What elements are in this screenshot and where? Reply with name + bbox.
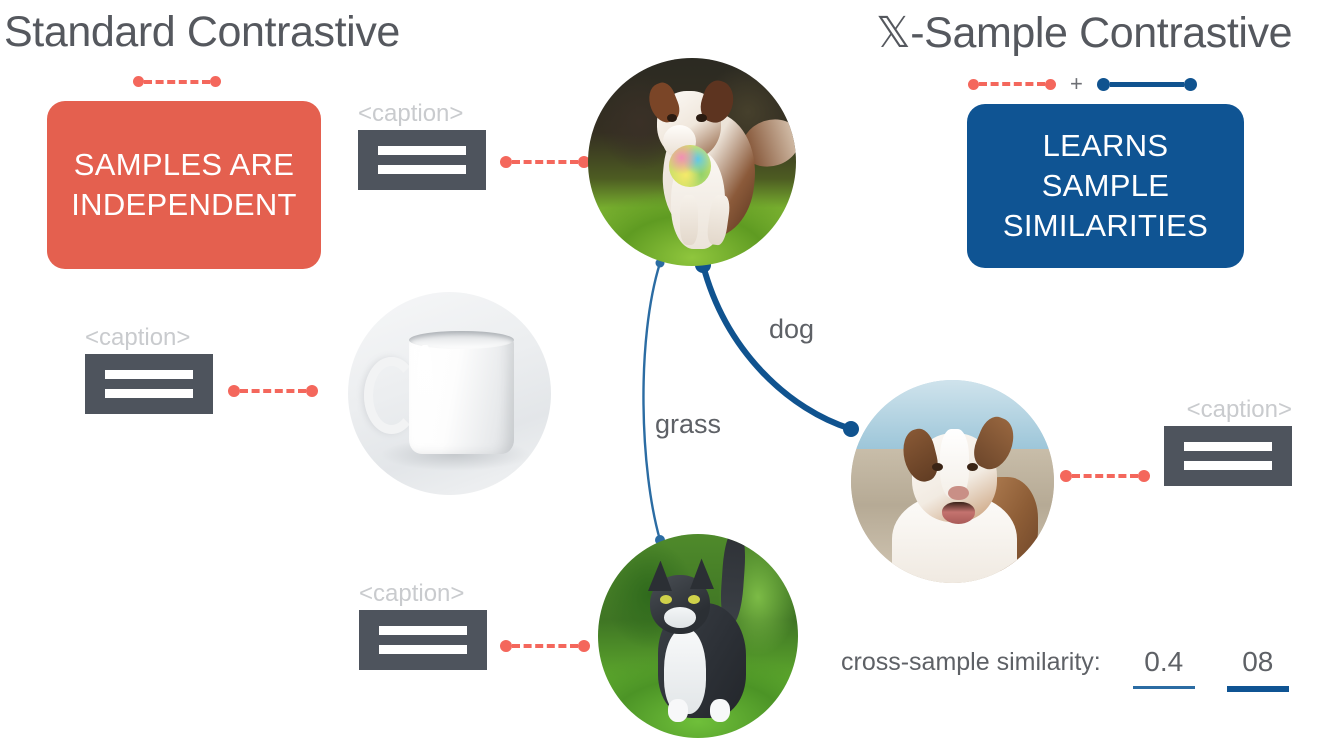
mug-highlight <box>417 345 433 434</box>
legend-plus-symbol: + <box>1070 73 1083 95</box>
cat-paw <box>668 699 688 721</box>
similarity-underline-thin-icon <box>1133 686 1195 689</box>
graph-edge-dog <box>703 265 851 429</box>
similarity-value-text: 0.4 <box>1144 648 1183 676</box>
cross-sample-similarity-legend: cross-sample similarity: 0.4 08 <box>841 648 1289 692</box>
legend-dashed-line-icon <box>979 82 1045 86</box>
caption-bar-line-2 <box>105 389 193 398</box>
connector-dashed-line-icon <box>1072 474 1138 478</box>
connector-caption-dog-beach <box>1060 470 1150 482</box>
panel-title-x-sample-contrastive: 𝕏-Sample Contrastive <box>876 8 1292 58</box>
connector-dashed-line-icon <box>512 644 578 648</box>
double-struck-x-icon: 𝕏 <box>876 8 910 58</box>
similarity-underline-thick-icon <box>1227 686 1289 692</box>
cat-paw <box>710 699 730 721</box>
caption-text-block <box>359 610 487 670</box>
legend-solid-pair <box>1097 78 1197 91</box>
dog-open-mouth <box>942 502 974 524</box>
photo-white-mug[interactable] <box>348 292 551 495</box>
similarity-value-low: 0.4 <box>1133 648 1195 689</box>
connector-dot-end-icon <box>1138 470 1150 482</box>
legend-dashed-pair <box>968 79 1056 90</box>
photo-cat-on-grass[interactable] <box>598 534 798 738</box>
legend-solid-dot-right-icon <box>1184 78 1197 91</box>
legend-dot-right-icon <box>1045 79 1056 90</box>
caption-text-block <box>1164 426 1292 486</box>
caption-stub-dog-grass: <caption> <box>358 100 486 190</box>
figure-canvas: Standard Contrastive 𝕏-Sample Contrastiv… <box>0 0 1339 738</box>
connector-dot-start-icon <box>500 156 512 168</box>
callout-line-2: SAMPLE <box>1042 166 1170 206</box>
callout-learns-sample-similarities: LEARNS SAMPLE SIMILARITIES <box>967 104 1244 268</box>
caption-bar-line-1 <box>105 370 193 379</box>
caption-text-block <box>85 354 213 414</box>
photo-dog-at-beach[interactable] <box>851 380 1054 583</box>
caption-text-block <box>358 130 486 190</box>
caption-bar-line-2 <box>379 645 467 654</box>
legend-standard-contrastive <box>133 76 221 87</box>
caption-placeholder-label: <caption> <box>85 324 213 352</box>
callout-samples-are-independent: SAMPLES ARE INDEPENDENT <box>47 101 321 269</box>
connector-dot-start-icon <box>500 640 512 652</box>
graph-edge-label-grass: grass <box>655 409 721 440</box>
caption-placeholder-label: <caption> <box>358 100 486 128</box>
legend-dot-right-icon <box>210 76 221 87</box>
callout-line-1: SAMPLES ARE <box>74 145 294 185</box>
connector-dot-start-icon <box>1060 470 1072 482</box>
similarity-value-high: 08 <box>1227 648 1289 692</box>
panel-title-standard-contrastive: Standard Contrastive <box>4 8 400 57</box>
caption-stub-dog-beach: <caption> <box>1164 396 1292 486</box>
caption-bar-line-1 <box>379 626 467 635</box>
similarity-value-text: 08 <box>1242 648 1273 676</box>
connector-caption-dog-grass <box>500 156 590 168</box>
similarity-label: cross-sample similarity: <box>841 648 1101 677</box>
legend-x-sample-contrastive: + <box>968 73 1197 95</box>
panel-title-x-sample-rest: -Sample Contrastive <box>910 9 1292 57</box>
cat-muzzle <box>664 607 696 627</box>
toy-ball <box>669 145 711 187</box>
caption-bar-line-2 <box>1184 461 1272 470</box>
photo-dog-on-grass[interactable] <box>588 58 796 266</box>
dog-leg <box>680 195 699 245</box>
callout-line-2: INDEPENDENT <box>71 185 297 225</box>
connector-dot-end-icon <box>306 385 318 397</box>
connector-dot-start-icon <box>228 385 240 397</box>
legend-solid-line-icon <box>1110 82 1184 87</box>
legend-solid-dot-left-icon <box>1097 78 1110 91</box>
caption-bar-line-1 <box>378 146 466 155</box>
legend-dot-left-icon <box>968 79 979 90</box>
legend-dashed-pair <box>133 76 221 87</box>
legend-dot-left-icon <box>133 76 144 87</box>
caption-stub-mug: <caption> <box>85 324 213 414</box>
connector-dashed-line-icon <box>240 389 306 393</box>
caption-bar-line-1 <box>1184 442 1272 451</box>
caption-placeholder-label: <caption> <box>1164 396 1292 424</box>
callout-line-3: SIMILARITIES <box>1003 206 1208 246</box>
graph-edge-grass <box>643 263 660 540</box>
legend-dashed-line-icon <box>144 80 210 84</box>
connector-caption-mug <box>228 385 318 397</box>
connector-dashed-line-icon <box>512 160 578 164</box>
graph-edge-label-dog: dog <box>769 314 814 345</box>
caption-stub-cat: <caption> <box>359 580 487 670</box>
caption-placeholder-label: <caption> <box>359 580 487 608</box>
connector-dot-end-icon <box>578 640 590 652</box>
dog-nose <box>948 486 968 500</box>
callout-line-1: LEARNS <box>1043 126 1169 166</box>
caption-bar-line-2 <box>378 165 466 174</box>
connector-caption-cat <box>500 640 590 652</box>
